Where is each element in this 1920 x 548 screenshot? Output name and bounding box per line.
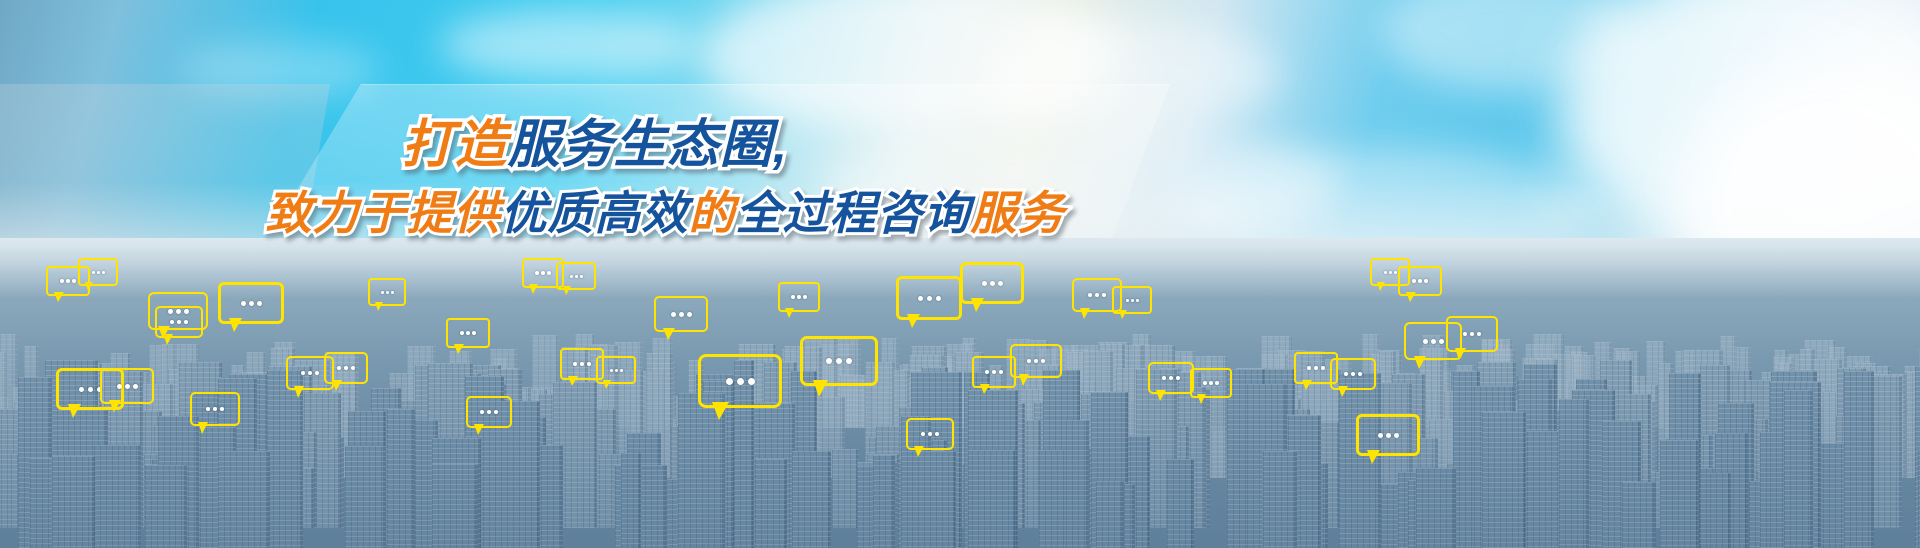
- bubble-tail: [1414, 356, 1426, 369]
- bubble-dot: [1041, 359, 1045, 363]
- speech-bubble-icon: [778, 282, 820, 312]
- bubble-dot: [985, 370, 989, 374]
- bubble-tail: [785, 308, 794, 318]
- bubble-dot: [791, 295, 795, 299]
- bubble-dot: [184, 320, 188, 324]
- bubble-tail: [1119, 310, 1127, 319]
- hero-banner: 打造服务生态圈, 致力于提供优质高效的全过程咨询服务: [0, 0, 1920, 548]
- bubble-tail: [1302, 380, 1312, 390]
- bubble-dot: [737, 378, 744, 385]
- bubble-dot: [1351, 372, 1355, 376]
- bubble-dot: [1386, 433, 1391, 438]
- speech-bubble-icon: [698, 354, 782, 408]
- bubble-dot: [220, 407, 224, 411]
- bubble-dot: [1162, 376, 1166, 380]
- bubble-dot: [927, 296, 932, 301]
- cloud-shape: [180, 40, 380, 100]
- speech-bubble-icon: [466, 396, 512, 428]
- speech-bubble-icon: [100, 368, 154, 404]
- bubble-dot: [1394, 271, 1397, 274]
- bubble-dot: [535, 271, 539, 275]
- bubble-dot: [679, 312, 684, 317]
- bubble-tail: [229, 318, 242, 332]
- bubble-tail: [971, 298, 984, 312]
- bubble-dot: [998, 281, 1003, 286]
- speech-bubble-icon: [906, 418, 954, 450]
- bubble-dot: [1176, 376, 1180, 380]
- speech-bubble-icon: [218, 282, 284, 324]
- bubble-dot: [1477, 332, 1481, 336]
- bubble-dot: [918, 296, 923, 301]
- bubble-tail: [1080, 308, 1090, 319]
- bubble-tail: [813, 380, 828, 397]
- bubble-dot: [1102, 293, 1106, 297]
- bubble-dot: [494, 410, 498, 414]
- bubble-dot: [547, 271, 551, 275]
- bubble-dot: [748, 378, 755, 385]
- bubble-dot: [1027, 359, 1031, 363]
- bubble-dot: [575, 275, 578, 278]
- bubble-dot: [206, 407, 210, 411]
- bubble-tail: [907, 314, 920, 328]
- bubble-dot: [66, 279, 70, 283]
- bubble-dot: [982, 281, 987, 286]
- bubble-dot: [315, 371, 319, 375]
- bubble-dot: [1169, 376, 1173, 380]
- bubble-dot: [487, 410, 491, 414]
- speech-bubble-icon: [190, 392, 240, 426]
- speech-bubble-icon: [1010, 344, 1062, 378]
- bubble-dot: [1424, 279, 1428, 283]
- bubble-dot: [803, 295, 807, 299]
- bubble-dot: [1203, 381, 1207, 385]
- bubble-dot: [1439, 339, 1444, 344]
- bubble-tail: [198, 422, 208, 434]
- bubble-dot: [480, 410, 484, 414]
- bubble-tail: [1377, 282, 1385, 291]
- bubble-dot: [125, 384, 130, 389]
- bubble-dot: [97, 271, 100, 274]
- speech-bubble-icon: [155, 306, 203, 338]
- speech-bubble-icon: [1446, 316, 1498, 352]
- speech-bubble-icon: [324, 352, 368, 384]
- bubble-dot: [1136, 299, 1139, 302]
- bubble-dot: [1307, 366, 1311, 370]
- bubble-dot: [1358, 372, 1362, 376]
- bubble-tail: [294, 386, 304, 398]
- speech-bubble-icon: [1148, 362, 1194, 394]
- bubble-dot: [928, 432, 932, 436]
- bubble-dot: [620, 369, 623, 372]
- bubble-dot: [102, 271, 105, 274]
- bubble-tail: [68, 404, 81, 418]
- bubble-dot: [1034, 359, 1038, 363]
- bubble-dot: [170, 320, 174, 324]
- bubble-dot: [249, 301, 254, 306]
- bubble-dot: [308, 371, 312, 375]
- bubble-tail: [375, 302, 383, 311]
- bubble-dot: [846, 358, 852, 364]
- bubble-tail: [1019, 374, 1029, 386]
- bubble-tail: [332, 380, 342, 391]
- cloud-shape: [440, 10, 700, 80]
- bubble-dot: [79, 387, 84, 392]
- bubble-dot: [301, 371, 305, 375]
- bubble-dot: [1463, 332, 1467, 336]
- bubble-tail: [563, 286, 571, 295]
- bubble-dot: [1423, 339, 1428, 344]
- bubble-dot: [1215, 381, 1219, 385]
- bubble-dot: [72, 279, 76, 283]
- bubble-dot: [1131, 299, 1134, 302]
- bubble-dot: [587, 362, 591, 366]
- bubble-dot: [1209, 381, 1213, 385]
- bubble-dot: [615, 369, 618, 372]
- speech-bubble-icon: [368, 278, 406, 306]
- bubble-dot: [472, 331, 476, 335]
- bubble-tail: [712, 402, 729, 420]
- bubble-dot: [257, 301, 262, 306]
- bubble-tail: [1338, 386, 1348, 397]
- bubble-dot: [1412, 279, 1416, 283]
- bubble-dot: [797, 295, 801, 299]
- bubble-dot: [466, 331, 470, 335]
- bubble-dot: [1470, 332, 1474, 336]
- bubble-tail: [663, 328, 675, 340]
- bubble-tail: [1367, 450, 1380, 464]
- bubble-dot: [671, 312, 676, 317]
- speech-bubble-icon: [1398, 266, 1442, 296]
- bubble-dot: [1418, 279, 1422, 283]
- speech-bubble-icon: [1190, 368, 1232, 398]
- bubble-dot: [386, 291, 389, 294]
- speech-bubble-icon: [78, 258, 118, 286]
- bubble-dot: [1088, 293, 1092, 297]
- bubble-dot: [60, 279, 64, 283]
- bubble-dot: [1095, 293, 1099, 297]
- bubble-dot: [213, 407, 217, 411]
- bubble-dot: [241, 301, 246, 306]
- bubble-dot: [1431, 339, 1436, 344]
- bubble-dot: [573, 362, 577, 366]
- cloud-shape: [980, 20, 1280, 130]
- bubble-dot: [1344, 372, 1348, 376]
- bubble-dot: [391, 291, 394, 294]
- bubble-tail: [54, 292, 64, 302]
- bubble-tail: [163, 334, 173, 345]
- bubble-dot: [921, 432, 925, 436]
- bubble-dot: [726, 378, 733, 385]
- bubble-dot: [1314, 366, 1318, 370]
- bubble-dot: [935, 432, 939, 436]
- bubble-tail: [1156, 390, 1166, 401]
- bubble-dot: [344, 366, 348, 370]
- bubble-dot: [836, 358, 842, 364]
- bubble-dot: [351, 366, 355, 370]
- bubble-dot: [990, 281, 995, 286]
- bubble-tail: [1406, 292, 1416, 302]
- bubble-dot: [337, 366, 341, 370]
- bubble-dot: [133, 384, 138, 389]
- bubble-tail: [914, 446, 924, 457]
- bubble-tail: [1455, 348, 1466, 360]
- bubble-dot: [460, 331, 464, 335]
- bubble-dot: [580, 362, 584, 366]
- bubble-dot: [88, 387, 93, 392]
- speech-bubble-icon: [596, 356, 636, 384]
- bubble-dot: [580, 275, 583, 278]
- bubble-dot: [936, 296, 941, 301]
- speech-bubble-icon: [960, 262, 1024, 304]
- bubble-dot: [1394, 433, 1399, 438]
- bubble-dot: [826, 358, 832, 364]
- bubble-dot: [1389, 271, 1392, 274]
- speech-bubble-icon: [654, 296, 708, 332]
- bubble-tail: [454, 344, 464, 354]
- bubble-dot: [1321, 366, 1325, 370]
- speech-bubble-icon: [446, 318, 490, 348]
- bubble-dot: [541, 271, 545, 275]
- bubble-tail: [85, 282, 93, 291]
- speech-bubble-icon: [1356, 414, 1420, 456]
- bubble-dot: [999, 370, 1003, 374]
- bubble-tail: [529, 284, 538, 294]
- speech-bubble-icon: [896, 276, 962, 320]
- bubble-tail: [603, 380, 611, 389]
- bubble-tail: [109, 400, 121, 412]
- bubble-dot: [687, 312, 692, 317]
- bubble-tail: [568, 376, 578, 386]
- bubble-dot: [1378, 433, 1383, 438]
- bubble-tail: [980, 384, 990, 394]
- speech-bubble-icon: [556, 262, 596, 290]
- bubble-dot: [992, 370, 996, 374]
- bubble-tail: [474, 424, 484, 435]
- speech-bubble-icon: [1330, 358, 1376, 390]
- speech-bubble-icon: [800, 336, 878, 386]
- bubble-dot: [117, 384, 122, 389]
- bubble-tail: [1197, 394, 1206, 404]
- bubble-dot: [177, 320, 181, 324]
- speech-bubble-icon: [1112, 286, 1152, 314]
